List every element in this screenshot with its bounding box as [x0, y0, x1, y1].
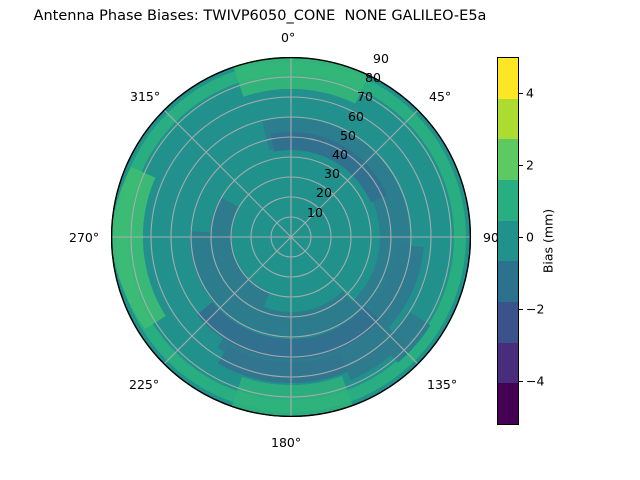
r-label-90[interactable]: 90 — [373, 51, 389, 66]
colorbar-band-6 — [498, 302, 518, 343]
colorbar-gradient — [497, 57, 519, 425]
theta-label-135[interactable]: 135° — [427, 377, 457, 392]
theta-label-180[interactable]: 180° — [271, 435, 301, 450]
colorbar-axis-label: Bias (mm) — [541, 209, 556, 273]
r-label-10[interactable]: 10 — [307, 205, 323, 220]
colorbar-ticklabel-m4: −4 — [526, 374, 544, 389]
colorbar-tick-m2 — [519, 309, 523, 310]
colorbar-ticklabel-0: 0 — [526, 230, 534, 245]
colorbar-ticklabel-m2: −2 — [526, 302, 544, 317]
r-label-30[interactable]: 30 — [324, 166, 340, 181]
colorbar-band-7 — [498, 343, 518, 384]
colorbar-band-1 — [498, 99, 518, 140]
colorbar-band-4 — [498, 221, 518, 262]
colorbar-tick-0 — [519, 237, 523, 238]
page-title: Antenna Phase Biases: TWIVP6050_CONE NON… — [0, 8, 520, 24]
colorbar-band-3 — [498, 180, 518, 221]
theta-label-225[interactable]: 225° — [129, 377, 159, 392]
colorbar-band-8 — [498, 383, 518, 424]
theta-label-270[interactable]: 270° — [69, 230, 99, 245]
colorbar[interactable]: 4 2 0 −2 −4 — [497, 57, 519, 425]
colorbar-ticklabel-4: 4 — [526, 86, 534, 101]
r-label-40[interactable]: 40 — [332, 147, 348, 162]
theta-label-315[interactable]: 315° — [130, 89, 160, 104]
colorbar-band-2 — [498, 139, 518, 180]
polar-plot[interactable]: 0° 45° 90 135° 180° 225° 270° 315° 10 20… — [111, 57, 471, 417]
polar-axes-svg — [111, 57, 471, 417]
r-label-50[interactable]: 50 — [340, 128, 356, 143]
r-label-60[interactable]: 60 — [348, 109, 364, 124]
colorbar-band-0 — [498, 58, 518, 99]
colorbar-ticklabel-2: 2 — [526, 158, 534, 173]
theta-label-0[interactable]: 0° — [281, 30, 295, 45]
polar-grid — [111, 57, 471, 417]
colorbar-tick-4 — [519, 93, 523, 94]
colorbar-band-5 — [498, 261, 518, 302]
theta-label-45[interactable]: 45° — [429, 89, 451, 104]
colorbar-tick-m4 — [519, 381, 523, 382]
figure-canvas: Antenna Phase Biases: TWIVP6050_CONE NON… — [0, 0, 640, 480]
r-label-80[interactable]: 80 — [365, 70, 381, 85]
colorbar-tick-2 — [519, 165, 523, 166]
r-label-20[interactable]: 20 — [316, 185, 332, 200]
r-label-70[interactable]: 70 — [357, 89, 373, 104]
